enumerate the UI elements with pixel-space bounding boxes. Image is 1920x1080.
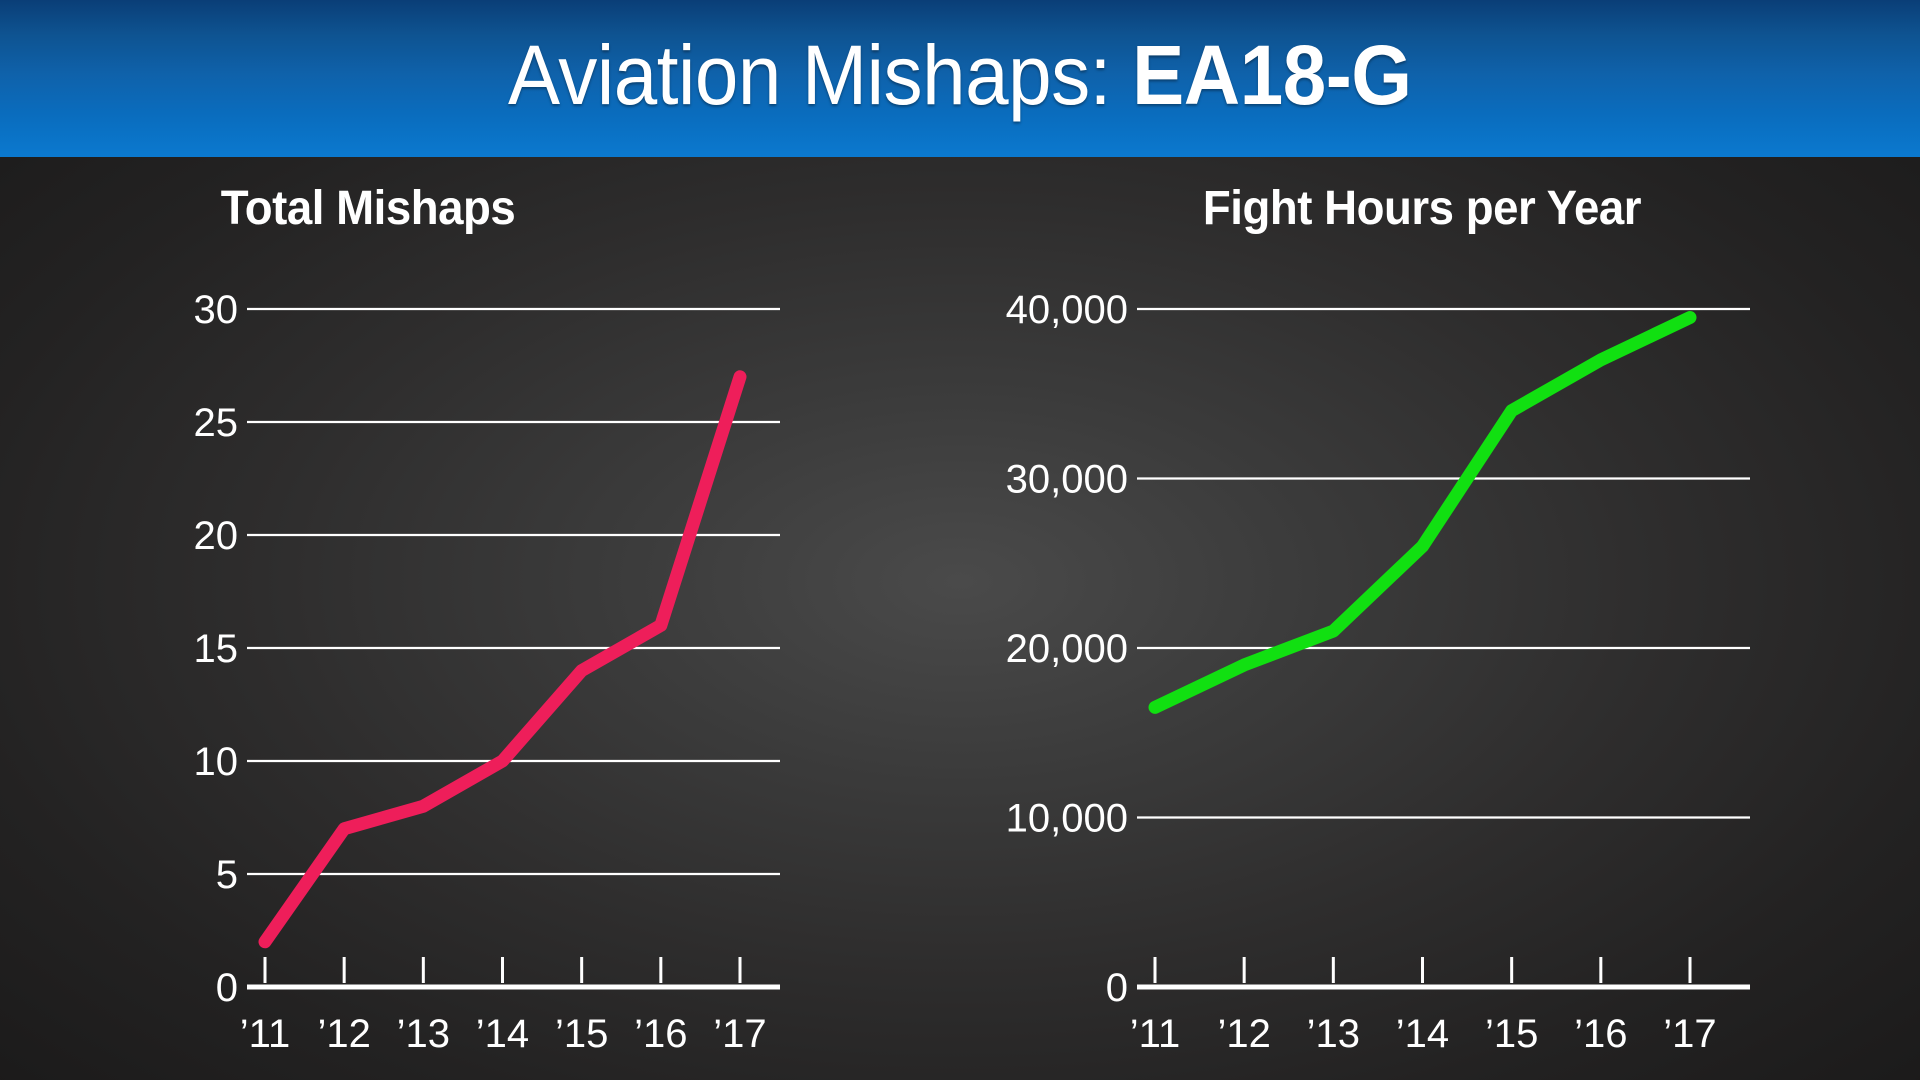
x-axis-tick-label: ’13 <box>1307 1012 1360 1056</box>
y-axis-tick-label: 10,000 <box>1006 797 1128 841</box>
y-axis-tick-label: 20,000 <box>1006 627 1128 671</box>
x-axis-tick-label: ’12 <box>317 1012 370 1056</box>
x-axis-tick-label: ’16 <box>1574 1012 1627 1056</box>
y-axis-tick-label: 0 <box>1106 966 1128 1010</box>
plot-total-mishaps: 051015202530’11’12’13’14’15’16’17 <box>0 247 960 1067</box>
y-axis-tick-label: 15 <box>194 627 239 671</box>
plot-fight-hours: 010,00020,00030,00040,000’11’12’13’14’15… <box>960 247 1920 1067</box>
title-bar: Aviation Mishaps: EA18-G <box>0 0 1920 157</box>
chart-panel-total-mishaps: Total Mishaps 051015202530’11’12’13’14’1… <box>0 157 960 1080</box>
x-axis-tick-label: ’17 <box>713 1012 766 1056</box>
chart-panel-fight-hours: Fight Hours per Year 010,00020,00030,000… <box>960 157 1920 1080</box>
data-series-line <box>265 377 740 942</box>
chart-stage: Total Mishaps 051015202530’11’12’13’14’1… <box>0 157 1920 1080</box>
page-title-regular: Aviation Mishaps: <box>508 28 1132 122</box>
x-axis-tick-label: ’12 <box>1217 1012 1270 1056</box>
x-axis-tick-label: ’11 <box>1130 1012 1180 1056</box>
x-axis-tick-label: ’14 <box>476 1012 529 1056</box>
y-axis-tick-label: 25 <box>194 401 239 445</box>
y-axis-tick-label: 10 <box>194 740 239 784</box>
y-axis-tick-label: 30,000 <box>1006 458 1128 502</box>
chart-title-fight-hours: Fight Hours per Year <box>966 181 1878 236</box>
page-title: Aviation Mishaps: EA18-G <box>508 33 1412 117</box>
y-axis-tick-label: 5 <box>216 853 238 897</box>
x-axis-tick-label: ’15 <box>1485 1012 1538 1056</box>
page-title-bold: EA18-G <box>1132 28 1411 122</box>
x-axis-tick-label: ’17 <box>1663 1012 1716 1056</box>
x-axis-tick-label: ’11 <box>240 1012 290 1056</box>
y-axis-tick-label: 40,000 <box>1006 288 1128 332</box>
x-axis-tick-label: ’13 <box>397 1012 450 1056</box>
plot-svg-total-mishaps: 051015202530’11’12’13’14’15’16’17 <box>0 247 960 1067</box>
x-axis-tick-label: ’14 <box>1396 1012 1449 1056</box>
plot-svg-fight-hours: 010,00020,00030,00040,000’11’12’13’14’15… <box>960 247 1920 1067</box>
y-axis-tick-label: 20 <box>194 514 239 558</box>
x-axis-tick-label: ’15 <box>555 1012 608 1056</box>
chart-title-total-mishaps: Total Mishaps <box>0 181 824 236</box>
x-axis-tick-label: ’16 <box>634 1012 687 1056</box>
y-axis-tick-label: 30 <box>194 288 239 332</box>
y-axis-tick-label: 0 <box>216 966 238 1010</box>
slide-root: Aviation Mishaps: EA18-G Total Mishaps 0… <box>0 0 1920 1080</box>
